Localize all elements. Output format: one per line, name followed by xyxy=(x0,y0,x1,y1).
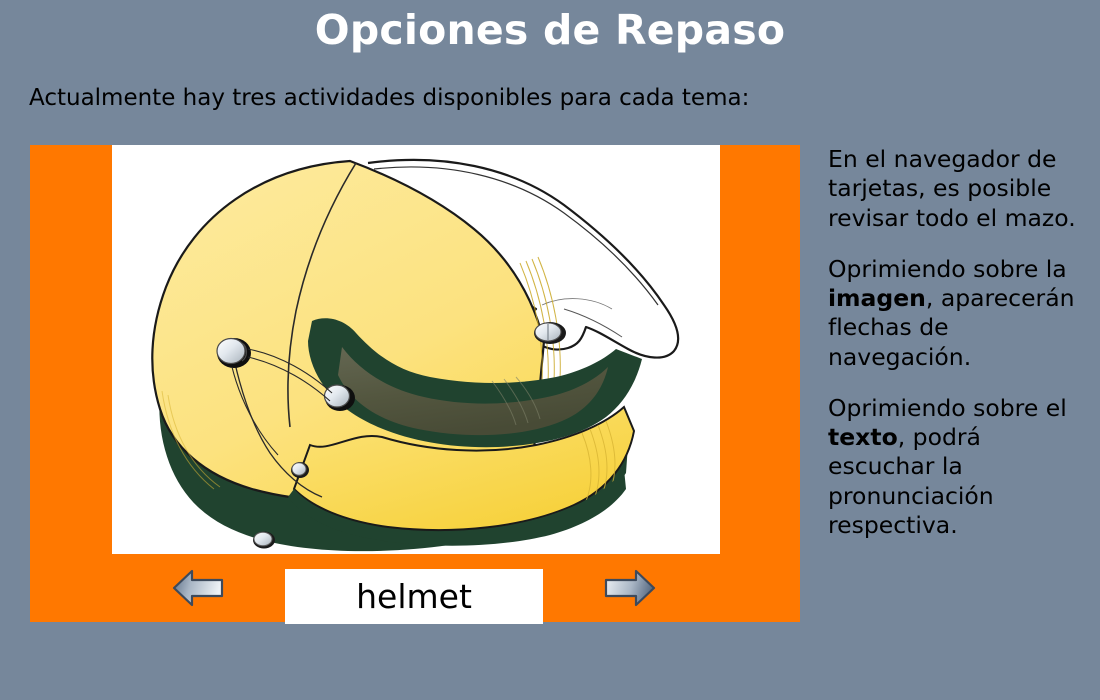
instructions-panel: En el navegador de tarjetas, es posible … xyxy=(828,145,1090,540)
intro-text: Actualmente hay tres actividades disponi… xyxy=(29,85,749,113)
word-label-text: helmet xyxy=(356,580,472,613)
flashcard-panel: helmet xyxy=(30,145,800,622)
note-text: Oprimiendo sobre la xyxy=(828,255,1067,283)
next-card-arrow-icon[interactable] xyxy=(600,562,658,614)
page-title: Opciones de Repaso xyxy=(0,8,1100,53)
note-image: Oprimiendo sobre la imagen, aparecerán f… xyxy=(828,255,1090,372)
word-label-box[interactable]: helmet xyxy=(285,569,543,624)
flashcard-image-area[interactable] xyxy=(112,145,720,554)
helmet-illustration[interactable] xyxy=(112,145,720,554)
note-browser: En el navegador de tarjetas, es posible … xyxy=(828,145,1090,233)
note-text: Oprimiendo sobre el texto, podrá escucha… xyxy=(828,394,1090,540)
note-text: Oprimiendo sobre el xyxy=(828,394,1067,422)
emphasis-text: texto xyxy=(828,423,898,451)
note-text: En el navegador de tarjetas, es posible … xyxy=(828,145,1076,232)
previous-card-arrow-icon[interactable] xyxy=(170,562,228,614)
emphasis-text: imagen xyxy=(828,284,926,312)
flashcard-controls: helmet xyxy=(30,554,800,622)
